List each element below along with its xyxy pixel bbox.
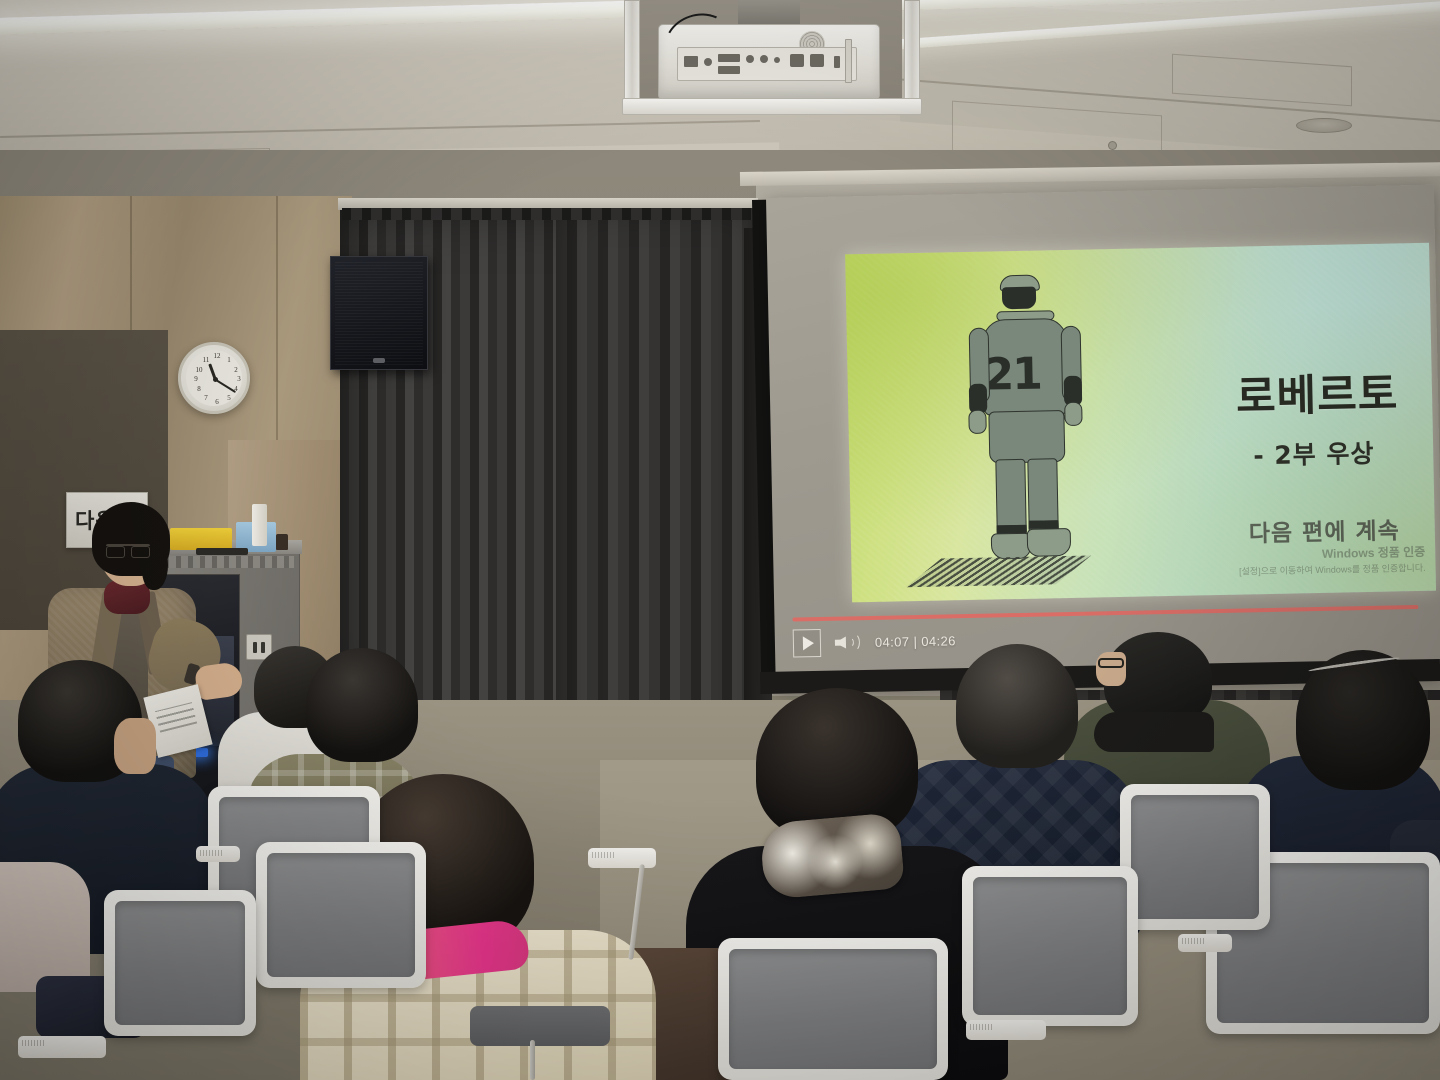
clock-numeral: 7 bbox=[201, 395, 211, 402]
remote-control bbox=[196, 548, 248, 555]
chair-armrest[interactable] bbox=[1178, 934, 1232, 952]
chair[interactable] bbox=[962, 866, 1138, 1026]
beige-sleeve bbox=[0, 862, 90, 992]
video-control-row: 04:07 | 04:26 bbox=[793, 626, 956, 657]
clock-numeral: 3 bbox=[234, 376, 244, 383]
wall-clock: 12 1 2 3 4 5 6 7 8 9 10 11 bbox=[178, 342, 250, 414]
ear-neck bbox=[114, 718, 156, 774]
chair-pad bbox=[729, 949, 937, 1069]
chair-armrest[interactable] bbox=[966, 1020, 1046, 1040]
paper-roll bbox=[252, 504, 267, 546]
projector-lift-frame bbox=[624, 0, 640, 112]
clock-numeral: 9 bbox=[191, 376, 201, 383]
speaker-logo bbox=[373, 358, 385, 363]
volume-icon[interactable] bbox=[835, 631, 861, 654]
clock-numeral: 5 bbox=[224, 395, 234, 402]
hair bbox=[306, 648, 418, 762]
clock-numeral: 6 bbox=[212, 399, 222, 406]
chair-pad bbox=[267, 853, 415, 977]
glasses-icon bbox=[1098, 658, 1124, 668]
projector-lift-frame bbox=[904, 0, 920, 112]
glasses-icon bbox=[106, 544, 150, 555]
chair[interactable] bbox=[718, 938, 948, 1080]
clock-numeral: 10 bbox=[194, 367, 204, 374]
gray-hair bbox=[956, 644, 1078, 768]
blackout-curtain bbox=[556, 200, 766, 766]
chair-armrest[interactable] bbox=[18, 1036, 106, 1058]
ceiling-projector bbox=[620, 0, 920, 118]
baseball-player-illustration: 21 bbox=[966, 269, 1132, 592]
floral-scarf bbox=[759, 812, 905, 900]
curtain-hooks bbox=[342, 208, 754, 220]
video-content-area: 21 로베르토 - 2부 우상 다음 편에 계속 Windows 정품 인증 bbox=[845, 243, 1436, 603]
lecture-hall-scene: 12 1 2 3 4 5 6 7 8 9 10 11 다음 bbox=[0, 0, 1440, 1080]
clock-numeral: 8 bbox=[194, 386, 204, 393]
clock-numeral: 1 bbox=[224, 357, 234, 364]
clock-center-pin bbox=[213, 377, 218, 382]
slide-subtitle: - 2부 우상 bbox=[1253, 434, 1375, 472]
speaker-grill bbox=[335, 261, 423, 365]
chair-armrest[interactable] bbox=[588, 848, 656, 868]
chair[interactable] bbox=[1120, 784, 1270, 930]
slide-title: 로베르토 bbox=[1236, 373, 1427, 420]
projector-mount bbox=[738, 0, 800, 26]
chair-pad bbox=[1131, 795, 1259, 919]
video-time-display: 04:07 | 04:26 bbox=[875, 633, 956, 650]
chair[interactable] bbox=[256, 842, 426, 988]
bottle bbox=[276, 534, 288, 550]
av-rack-vents bbox=[152, 556, 294, 568]
clock-numeral: 12 bbox=[212, 353, 222, 360]
downlight-icon bbox=[1296, 118, 1352, 133]
play-button[interactable] bbox=[793, 629, 822, 658]
scarf-collar bbox=[1094, 712, 1214, 752]
projection-screen: 21 로베르토 - 2부 우상 다음 편에 계속 Windows 정품 인증 bbox=[766, 185, 1440, 690]
projector-lift-frame bbox=[622, 98, 922, 115]
video-progress-bar[interactable] bbox=[792, 605, 1418, 622]
jersey-number: 21 bbox=[983, 349, 1041, 401]
clock-numeral: 2 bbox=[231, 367, 241, 374]
play-icon bbox=[803, 636, 814, 650]
wall-speaker bbox=[330, 256, 428, 370]
chair-armrest[interactable] bbox=[196, 846, 240, 862]
chair-leg bbox=[530, 1040, 535, 1080]
windows-activation-watermark-line1: Windows 정품 인증 bbox=[1322, 543, 1426, 562]
yellow-storage-box bbox=[170, 528, 232, 550]
chair-seat bbox=[470, 1006, 610, 1046]
chair[interactable] bbox=[104, 890, 256, 1036]
chair-pad bbox=[115, 901, 245, 1025]
chair-pad bbox=[973, 877, 1127, 1015]
